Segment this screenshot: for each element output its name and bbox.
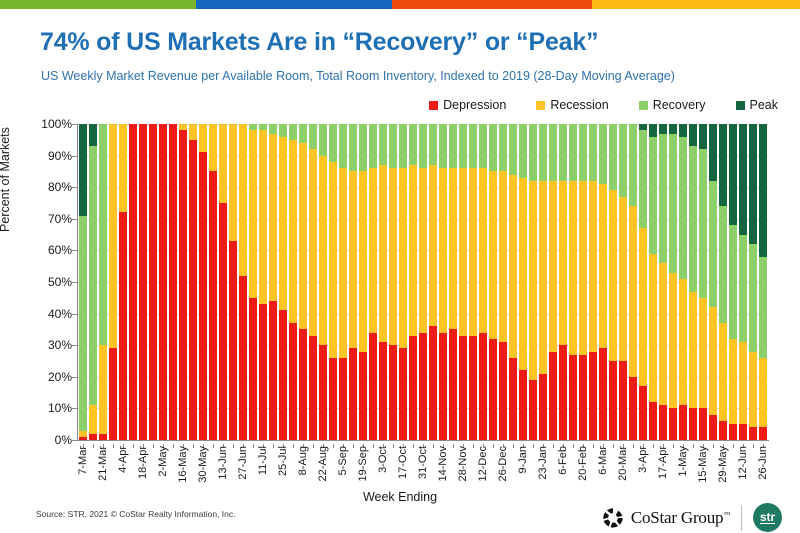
bar-segment-recession — [309, 149, 317, 335]
bar-segment-depression — [89, 434, 97, 440]
chart-bars — [78, 124, 768, 440]
bar-segment-recession — [449, 168, 457, 329]
bar-segment-depression — [759, 427, 767, 440]
logo-divider — [741, 505, 742, 531]
bar-column[interactable] — [388, 124, 398, 440]
bar-column[interactable] — [638, 124, 648, 440]
bar-segment-peak — [739, 124, 747, 235]
bar-segment-depression — [199, 152, 207, 440]
bar-segment-recession — [489, 171, 497, 338]
x-axis-column: 19-Sep — [358, 444, 368, 496]
bar-segment-recovery — [549, 124, 557, 181]
x-axis-column: 26-Dec — [498, 444, 508, 496]
bar-segment-recovery — [669, 134, 677, 273]
bar-segment-recovery — [289, 124, 297, 140]
bar-segment-peak — [729, 124, 737, 225]
x-axis-tick — [533, 444, 534, 448]
bar-segment-depression — [169, 124, 177, 440]
bar-segment-depression — [519, 370, 527, 440]
bar-column[interactable] — [758, 124, 768, 440]
bar-segment-recession — [199, 124, 207, 152]
y-axis-tick — [72, 440, 77, 441]
bar-segment-depression — [749, 427, 757, 440]
x-axis-tick — [233, 444, 234, 448]
x-axis-labels: 7-Mar21-Mar4-Apr18-Apr2-May16-May30-May1… — [78, 444, 768, 496]
bar-segment-depression — [719, 421, 727, 440]
bar-segment-recovery — [99, 124, 107, 345]
legend-swatch-icon — [639, 101, 648, 110]
bar-column[interactable] — [338, 124, 348, 440]
bar-segment-recovery — [679, 137, 687, 279]
x-axis-tick — [133, 444, 134, 448]
y-axis-tick-label: 50% — [26, 275, 72, 289]
x-axis-column: 17-Oct — [398, 444, 408, 496]
bar-segment-depression — [449, 329, 457, 440]
bar-segment-depression — [509, 358, 517, 440]
bar-column[interactable] — [708, 124, 718, 440]
legend-swatch-icon — [536, 101, 545, 110]
x-axis-tick — [93, 444, 94, 448]
bar-segment-depression — [269, 301, 277, 440]
bar-column[interactable] — [118, 124, 128, 440]
bar-segment-recovery — [89, 146, 97, 405]
bar-segment-depression — [279, 310, 287, 440]
bar-column[interactable] — [558, 124, 568, 440]
bar-segment-recession — [389, 168, 397, 345]
bar-segment-recovery — [729, 225, 737, 339]
legend-swatch-icon — [736, 101, 745, 110]
bar-segment-recession — [419, 168, 427, 332]
bar-segment-depression — [339, 358, 347, 440]
brand-color-bar — [0, 0, 800, 9]
bar-column[interactable] — [448, 124, 458, 440]
bar-column[interactable] — [578, 124, 588, 440]
bar-column[interactable] — [98, 124, 108, 440]
brand-bar-blue — [196, 0, 392, 9]
str-badge: str — [753, 503, 782, 532]
bar-segment-depression — [109, 348, 117, 440]
bar-column[interactable] — [548, 124, 558, 440]
bar-segment-recovery — [609, 124, 617, 190]
x-axis-column: 31-Oct — [418, 444, 428, 496]
bar-column[interactable] — [588, 124, 598, 440]
bar-segment-peak — [89, 124, 97, 146]
bar-segment-depression — [359, 352, 367, 440]
bar-column[interactable] — [288, 124, 298, 440]
bar-column[interactable] — [398, 124, 408, 440]
bar-column[interactable] — [618, 124, 628, 440]
bar-segment-recession — [669, 273, 677, 409]
bar-segment-recovery — [649, 137, 657, 254]
bar-segment-peak — [699, 124, 707, 149]
bar-segment-recession — [539, 181, 547, 374]
x-axis-tick — [373, 444, 374, 448]
x-axis-column: 9-Jan — [518, 444, 528, 496]
bar-segment-peak — [659, 124, 667, 133]
x-axis-column: 25-Jul — [278, 444, 288, 496]
bar-column[interactable] — [658, 124, 668, 440]
bar-segment-depression — [559, 345, 567, 440]
bar-segment-recession — [559, 181, 567, 345]
bar-column[interactable] — [498, 124, 508, 440]
bar-segment-peak — [679, 124, 687, 137]
bar-segment-recession — [689, 292, 697, 409]
x-axis-tick — [733, 444, 734, 448]
bar-column[interactable] — [488, 124, 498, 440]
y-axis-tick-label: 30% — [26, 338, 72, 352]
brand-bar-orange — [392, 0, 592, 9]
bar-column[interactable] — [158, 124, 168, 440]
bar-segment-recovery — [269, 124, 277, 133]
x-axis-column: 28-Nov — [458, 444, 468, 496]
bar-segment-recession — [409, 165, 417, 336]
x-axis-column: 20-Feb — [578, 444, 588, 496]
bar-column[interactable] — [298, 124, 308, 440]
bar-segment-depression — [499, 342, 507, 440]
bar-column[interactable] — [368, 124, 378, 440]
bar-column[interactable] — [598, 124, 608, 440]
bar-segment-depression — [409, 336, 417, 440]
bar-column[interactable] — [378, 124, 388, 440]
legend-item-recovery[interactable]: Recovery — [639, 98, 706, 112]
bar-column[interactable] — [198, 124, 208, 440]
x-axis-column: 7-Mar — [78, 444, 88, 496]
x-axis-column: 8-Aug — [298, 444, 308, 496]
brand-bar-yellow — [592, 0, 800, 9]
bar-segment-recession — [349, 171, 357, 348]
bar-segment-depression — [79, 437, 87, 440]
x-axis-title: Week Ending — [0, 490, 800, 504]
page-subtitle: US Weekly Market Revenue per Available R… — [41, 68, 741, 85]
bar-column[interactable] — [428, 124, 438, 440]
bar-segment-depression — [659, 405, 667, 440]
x-axis-column: 20-Mar — [618, 444, 628, 496]
bar-segment-recession — [469, 168, 477, 335]
bar-column[interactable] — [738, 124, 748, 440]
x-axis-column: 1-May — [678, 444, 688, 496]
x-axis-tick — [453, 444, 454, 448]
bar-column[interactable] — [418, 124, 428, 440]
bar-segment-recovery — [459, 124, 467, 168]
bar-segment-recovery — [599, 124, 607, 184]
y-axis-tick-label: 0% — [26, 433, 72, 447]
bar-segment-recovery — [759, 257, 767, 358]
x-axis-column: 11-Jul — [258, 444, 268, 496]
bar-column[interactable] — [148, 124, 158, 440]
bar-segment-depression — [259, 304, 267, 440]
bar-column[interactable] — [608, 124, 618, 440]
x-axis-tick — [573, 444, 574, 448]
bar-segment-depression — [319, 345, 327, 440]
bar-segment-recession — [509, 175, 517, 358]
bar-segment-recovery — [539, 124, 547, 181]
y-axis-tick-label: 20% — [26, 370, 72, 384]
bar-column[interactable] — [748, 124, 758, 440]
y-axis-tick-label: 10% — [26, 401, 72, 415]
bar-segment-depression — [229, 241, 237, 440]
bar-column[interactable] — [458, 124, 468, 440]
bar-column[interactable] — [328, 124, 338, 440]
bar-column[interactable] — [728, 124, 738, 440]
x-axis-tick — [393, 444, 394, 448]
bar-column[interactable] — [138, 124, 148, 440]
bar-segment-recession — [269, 134, 277, 301]
bar-segment-recovery — [359, 124, 367, 171]
x-axis-column: 14-Nov — [438, 444, 448, 496]
bar-segment-recession — [549, 181, 557, 352]
legend-label: Depression — [443, 98, 506, 112]
x-axis-column: 27-Jun — [238, 444, 248, 496]
x-axis-column: 6-Mar — [598, 444, 608, 496]
y-axis-tick-label: 60% — [26, 243, 72, 257]
bar-column[interactable] — [248, 124, 258, 440]
bar-segment-depression — [569, 355, 577, 440]
bar-column[interactable] — [188, 124, 198, 440]
x-axis-tick — [153, 444, 154, 448]
bar-segment-depression — [389, 345, 397, 440]
bar-segment-recovery — [399, 124, 407, 168]
bar-segment-depression — [669, 408, 677, 440]
x-axis-tick — [293, 444, 294, 448]
bar-segment-peak — [689, 124, 697, 146]
bar-segment-recession — [119, 124, 127, 212]
bar-segment-recovery — [379, 124, 387, 165]
bar-segment-recession — [249, 130, 257, 297]
bar-segment-recession — [609, 190, 617, 361]
bar-segment-recession — [729, 339, 737, 424]
bar-segment-depression — [139, 124, 147, 440]
bar-segment-depression — [619, 361, 627, 440]
bar-column[interactable] — [508, 124, 518, 440]
bar-segment-depression — [299, 329, 307, 440]
bar-segment-recovery — [439, 124, 447, 168]
bar-segment-depression — [159, 124, 167, 440]
bar-segment-recovery — [479, 124, 487, 168]
bar-column[interactable] — [178, 124, 188, 440]
x-axis-column: 29-May — [718, 444, 728, 496]
bar-segment-depression — [469, 336, 477, 440]
bar-segment-recession — [459, 168, 467, 335]
page-title: 74% of US Markets Are in “Recovery” or “… — [40, 28, 598, 57]
bar-segment-recession — [289, 140, 297, 323]
bar-column[interactable] — [318, 124, 328, 440]
bar-column[interactable] — [438, 124, 448, 440]
x-axis-column: 6-Feb — [558, 444, 568, 496]
x-axis-column: 4-Apr — [118, 444, 128, 496]
bar-column[interactable] — [268, 124, 278, 440]
bar-segment-recovery — [529, 124, 537, 181]
x-axis-tick-label: 26-Jun — [757, 446, 769, 480]
bar-segment-recession — [529, 181, 537, 380]
bar-segment-recession — [759, 358, 767, 428]
x-axis-tick — [253, 444, 254, 448]
bar-segment-depression — [609, 361, 617, 440]
bar-column[interactable] — [698, 124, 708, 440]
x-axis-column: 2-May — [158, 444, 168, 496]
bar-segment-recession — [259, 130, 267, 304]
bar-segment-recession — [589, 181, 597, 352]
x-axis-column: 13-Jun — [218, 444, 228, 496]
bar-segment-recession — [329, 162, 337, 358]
bar-segment-recovery — [689, 146, 697, 291]
bar-segment-depression — [739, 424, 747, 440]
x-axis-column: 21-Mar — [98, 444, 108, 496]
bar-segment-depression — [99, 434, 107, 440]
bar-segment-recovery — [329, 124, 337, 162]
bar-column[interactable] — [678, 124, 688, 440]
y-axis-tick-label: 40% — [26, 307, 72, 321]
bar-column[interactable] — [108, 124, 118, 440]
bar-segment-recovery — [369, 124, 377, 168]
y-axis-tick — [72, 156, 77, 157]
x-axis-tick — [753, 444, 754, 448]
costar-mark-icon — [601, 506, 625, 530]
bar-segment-recovery — [709, 181, 717, 307]
bar-column[interactable] — [168, 124, 178, 440]
bar-segment-depression — [329, 358, 337, 440]
x-axis-tick — [493, 444, 494, 448]
bar-segment-recovery — [619, 124, 627, 197]
bar-segment-recovery — [319, 124, 327, 156]
bar-column[interactable] — [358, 124, 368, 440]
bar-segment-recovery — [349, 124, 357, 171]
costar-brand-text: CoStar Group — [631, 508, 724, 527]
x-axis-tick — [713, 444, 714, 448]
bar-segment-recession — [499, 171, 507, 342]
legend-label: Recovery — [653, 98, 706, 112]
x-axis-tick — [553, 444, 554, 448]
bar-column[interactable] — [478, 124, 488, 440]
bar-column[interactable] — [718, 124, 728, 440]
chart-plot-area — [78, 124, 768, 440]
bar-segment-depression — [539, 374, 547, 440]
y-axis-tick — [72, 219, 77, 220]
y-axis-tick — [72, 408, 77, 409]
bar-segment-recession — [569, 181, 577, 355]
bar-column[interactable] — [568, 124, 578, 440]
x-axis-tick — [653, 444, 654, 448]
bar-segment-depression — [709, 415, 717, 440]
y-axis-title: Percent of Markets — [0, 127, 12, 232]
bar-segment-recession — [399, 168, 407, 348]
bar-segment-recovery — [299, 124, 307, 143]
bar-segment-depression — [649, 402, 657, 440]
bar-column[interactable] — [668, 124, 678, 440]
x-axis-tick — [413, 444, 414, 448]
bar-segment-recession — [369, 168, 377, 332]
bar-column[interactable] — [208, 124, 218, 440]
x-axis-tick — [173, 444, 174, 448]
x-axis-tick — [473, 444, 474, 448]
bar-segment-recession — [719, 323, 727, 421]
bar-segment-recovery — [499, 124, 507, 171]
legend-item-recession[interactable]: Recession — [536, 98, 608, 112]
bar-segment-depression — [119, 212, 127, 440]
bar-column[interactable] — [528, 124, 538, 440]
bar-segment-recovery — [559, 124, 567, 181]
bar-segment-recovery — [519, 124, 527, 178]
bar-column[interactable] — [88, 124, 98, 440]
x-axis-tick — [313, 444, 314, 448]
bar-segment-recession — [479, 168, 487, 332]
x-axis-tick — [433, 444, 434, 448]
bar-column[interactable] — [348, 124, 358, 440]
bar-segment-recovery — [699, 149, 707, 298]
bar-segment-depression — [179, 130, 187, 440]
x-axis-tick — [213, 444, 214, 448]
x-axis-column: 18-Apr — [138, 444, 148, 496]
bar-column[interactable] — [228, 124, 238, 440]
x-axis-tick — [193, 444, 194, 448]
legend-item-depression[interactable]: Depression — [429, 98, 506, 112]
bar-segment-recession — [189, 124, 197, 140]
bar-segment-depression — [289, 323, 297, 440]
bar-segment-peak — [649, 124, 657, 137]
x-axis-tick — [593, 444, 594, 448]
x-axis-tick — [113, 444, 114, 448]
bar-column[interactable] — [628, 124, 638, 440]
brand-bar-green — [0, 0, 196, 9]
bar-segment-recession — [229, 124, 237, 241]
bar-segment-recovery — [659, 134, 667, 264]
x-axis-column: 22-Aug — [318, 444, 328, 496]
bar-segment-recession — [579, 181, 587, 355]
bar-segment-recession — [749, 352, 757, 428]
bar-segment-depression — [219, 203, 227, 440]
bar-segment-recovery — [589, 124, 597, 181]
bar-segment-recession — [519, 178, 527, 371]
x-axis-column: 3-Oct — [378, 444, 388, 496]
bar-column[interactable] — [688, 124, 698, 440]
y-axis-tick-label: 70% — [26, 212, 72, 226]
bar-column[interactable] — [518, 124, 528, 440]
bar-segment-recession — [709, 307, 717, 414]
bar-column[interactable] — [408, 124, 418, 440]
bar-segment-recession — [299, 143, 307, 329]
x-axis-tick — [513, 444, 514, 448]
bar-column[interactable] — [308, 124, 318, 440]
legend-item-peak[interactable]: Peak — [736, 98, 779, 112]
bar-column[interactable] — [218, 124, 228, 440]
bar-column[interactable] — [278, 124, 288, 440]
bar-column[interactable] — [128, 124, 138, 440]
x-axis-column: 3-Apr — [638, 444, 648, 496]
bar-segment-peak — [709, 124, 717, 181]
bar-segment-recession — [429, 165, 437, 326]
bar-column[interactable] — [648, 124, 658, 440]
bar-segment-depression — [699, 408, 707, 440]
bar-segment-depression — [689, 408, 697, 440]
bar-segment-recovery — [629, 124, 637, 206]
bar-segment-depression — [429, 326, 437, 440]
bar-segment-recovery — [279, 124, 287, 137]
bar-column[interactable] — [538, 124, 548, 440]
bar-column[interactable] — [78, 124, 88, 440]
bar-segment-depression — [129, 124, 137, 440]
x-axis-tick — [353, 444, 354, 448]
legend-swatch-icon — [429, 101, 438, 110]
bar-column[interactable] — [238, 124, 248, 440]
bar-segment-recession — [659, 263, 667, 405]
bar-segment-recovery — [579, 124, 587, 181]
costar-wordmark: CoStar Group™ — [631, 508, 730, 528]
bar-column[interactable] — [258, 124, 268, 440]
bar-segment-depression — [459, 336, 467, 440]
bar-column[interactable] — [468, 124, 478, 440]
bar-segment-depression — [729, 424, 737, 440]
y-axis-tick — [72, 345, 77, 346]
bar-segment-recession — [649, 254, 657, 403]
